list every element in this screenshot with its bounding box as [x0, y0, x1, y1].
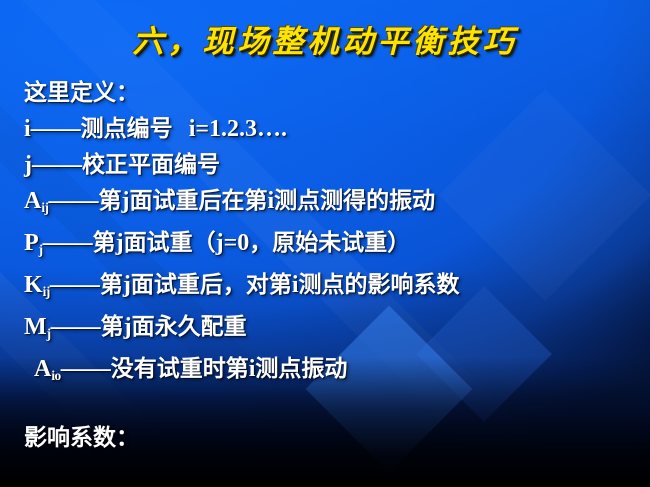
slide-title-container: 六，现场整机动平衡技巧	[0, 16, 650, 61]
subscript-ij-k: ij	[43, 284, 50, 299]
definition-text-i: 测点编号	[81, 116, 173, 142]
pj-inline-j: j	[116, 230, 124, 256]
aij-inline-j: j	[122, 188, 130, 214]
kij-text-a: 第	[100, 272, 123, 298]
mj-inline-j: j	[124, 314, 132, 340]
definition-line-mj: Mj——第j面永久配重	[24, 309, 644, 351]
em-dash-5: ——	[50, 271, 100, 298]
em-dash-7: ——	[61, 355, 111, 382]
pj-text-a: 第	[93, 230, 116, 256]
symbol-a-io: A	[34, 356, 51, 382]
intro-text: 这里定义：	[24, 80, 139, 106]
pj-text-c: ，原始未试重）	[249, 230, 410, 256]
symbol-i: i	[24, 116, 31, 142]
subscript-io: io	[51, 368, 60, 383]
symbol-m: M	[24, 314, 47, 340]
footer-label: 影响系数：	[24, 418, 139, 452]
symbol-a: A	[24, 188, 41, 214]
aij-text-b: 面试重后在第	[130, 188, 268, 214]
symbol-k: K	[24, 272, 43, 298]
em-dash-4: ——	[43, 229, 93, 256]
em-dash-2: ——	[32, 151, 82, 178]
slide-title: 六，现场整机动平衡技巧	[133, 16, 518, 61]
pj-formula: j=0	[216, 230, 250, 256]
em-dash-3: ——	[49, 187, 99, 214]
mj-text-b: 面永久配重	[132, 314, 247, 340]
aij-text-a: 第	[99, 188, 122, 214]
kij-text-c: 测点的影响系数	[299, 272, 460, 298]
definitions-list: 这里定义： i——测点编号 i=1.2.3…. j——校正平面编号 Aij——第…	[24, 76, 644, 393]
intro-line: 这里定义：	[24, 76, 644, 111]
em-dash-6: ——	[51, 313, 101, 340]
kij-inline-j: j	[123, 272, 131, 298]
aio-text-b: 测点振动	[255, 356, 347, 382]
pj-text-b: 面试重（	[124, 230, 216, 256]
symbol-j: j	[24, 152, 32, 178]
definition-line-pj: Pj——第j面试重（j=0，原始未试重）	[24, 225, 644, 267]
aio-text-a: 没有试重时第	[111, 356, 249, 382]
aij-text-c: 测点测得的振动	[274, 188, 435, 214]
slide-canvas: 六，现场整机动平衡技巧 这里定义： i——测点编号 i=1.2.3…. j——校…	[0, 0, 650, 487]
definition-line-j: j——校正平面编号	[24, 147, 644, 183]
kij-text-b: 面试重后，对第	[131, 272, 292, 298]
mj-text-a: 第	[101, 314, 124, 340]
definition-text-j: 校正平面编号	[82, 152, 220, 178]
definition-line-i: i——测点编号 i=1.2.3….	[24, 111, 644, 147]
definition-line-aij: Aij——第j面试重后在第i测点测得的振动	[24, 183, 644, 225]
subscript-ij: ij	[41, 200, 48, 215]
definition-line-kij: Kij——第j面试重后，对第i测点的影响系数	[24, 267, 644, 309]
kij-inline-i: i	[292, 272, 299, 298]
definition-extra-i: i=1.2.3….	[189, 116, 287, 142]
definition-line-aio: Aio——没有试重时第i测点振动	[24, 351, 644, 393]
symbol-p: P	[24, 230, 39, 256]
em-dash-1: ——	[31, 115, 81, 142]
